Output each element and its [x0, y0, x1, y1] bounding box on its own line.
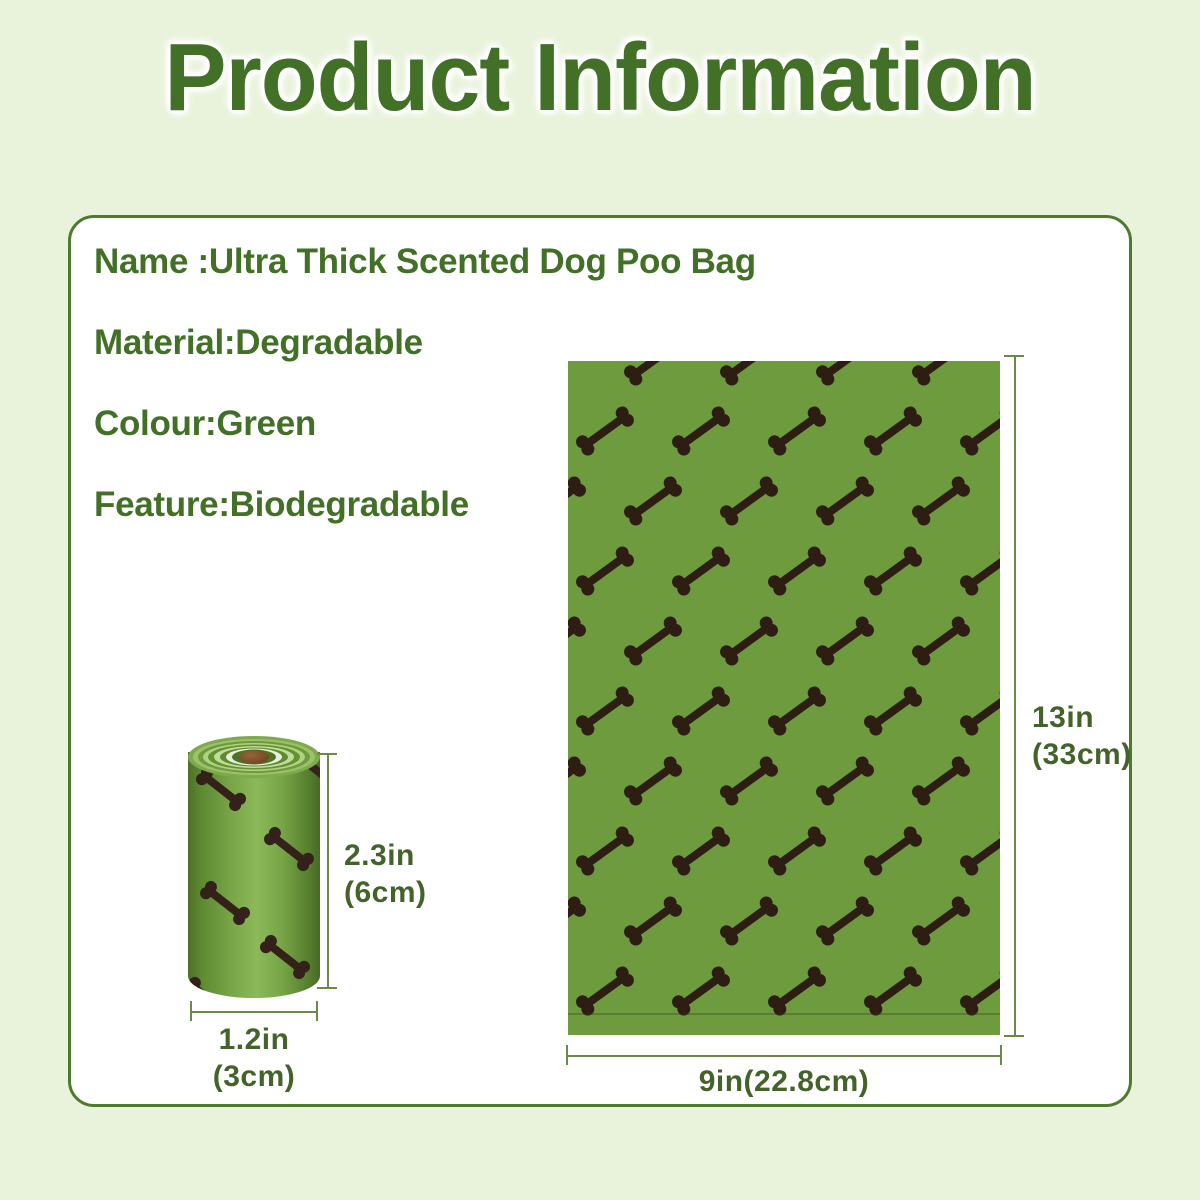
bone-icon	[622, 895, 684, 948]
bone-icon	[574, 825, 636, 878]
roll-body	[188, 752, 320, 998]
bone-icon	[958, 545, 1000, 598]
roll-width-cap-left	[190, 1001, 192, 1021]
bone-icon	[622, 615, 684, 668]
bag-height-inches: 13in	[1032, 700, 1132, 737]
roll-height-dimension-line	[327, 753, 329, 989]
roll-height-cap-top	[317, 753, 337, 755]
bone-icon	[258, 933, 312, 980]
page-title: Product Information	[18, 28, 1182, 129]
bag-seam-line	[568, 1013, 1000, 1015]
bone-icon	[670, 405, 732, 458]
bag-width-cap-right	[1000, 1045, 1002, 1065]
bone-icon	[574, 685, 636, 738]
bone-icon	[188, 975, 236, 998]
spec-row-name: Name :Ultra Thick Scented Dog Poo Bag	[94, 242, 654, 282]
bag-height-label: 13in (33cm)	[1032, 700, 1132, 773]
bone-icon	[670, 965, 732, 1018]
bone-icon	[622, 755, 684, 808]
bone-icon	[766, 685, 828, 738]
dog-poo-bag-roll-image	[188, 736, 320, 1004]
roll-width-cap-right	[316, 1001, 318, 1021]
bone-icon	[766, 545, 828, 598]
bag-height-cm: (33cm)	[1032, 737, 1132, 774]
bone-icon	[568, 615, 588, 668]
bone-pattern	[568, 361, 1000, 1035]
bone-icon	[198, 879, 252, 926]
bag-height-cap-bottom	[1004, 1035, 1024, 1037]
bone-icon	[958, 405, 1000, 458]
bone-icon	[814, 475, 876, 528]
roll-width-label: 1.2in (3cm)	[154, 1022, 354, 1095]
bone-icon	[862, 405, 924, 458]
bone-icon	[862, 965, 924, 1018]
bone-icon	[574, 965, 636, 1018]
bone-icon	[862, 545, 924, 598]
roll-width-inches: 1.2in	[154, 1022, 354, 1059]
bone-icon	[718, 755, 780, 808]
bag-height-cap-top	[1004, 355, 1024, 357]
bone-icon	[910, 361, 972, 387]
bone-icon	[670, 685, 732, 738]
spec-row-material: Material:Degradable	[94, 323, 654, 363]
bone-icon	[910, 615, 972, 668]
dog-poo-bag-image	[568, 361, 1000, 1035]
bone-icon	[766, 405, 828, 458]
bag-width-cap-left	[566, 1045, 568, 1065]
bone-icon	[568, 755, 588, 808]
bone-icon	[958, 965, 1000, 1018]
bag-width-dimension-line	[566, 1055, 1002, 1057]
bone-icon	[718, 895, 780, 948]
bone-icon	[568, 895, 588, 948]
bone-icon	[718, 475, 780, 528]
bone-icon	[568, 361, 588, 387]
roll-height-inches: 2.3in	[344, 838, 427, 875]
bone-icon	[910, 895, 972, 948]
bone-icon	[910, 475, 972, 528]
bone-icon	[622, 361, 684, 387]
bone-icon	[958, 685, 1000, 738]
bone-icon	[814, 615, 876, 668]
bone-icon	[718, 361, 780, 387]
bone-icon	[814, 755, 876, 808]
roll-top-spiral	[188, 736, 320, 778]
roll-width-cm: (3cm)	[154, 1059, 354, 1096]
bone-icon	[574, 545, 636, 598]
bag-width-label: 9in(22.8cm)	[584, 1064, 984, 1101]
bone-icon	[958, 825, 1000, 878]
bone-icon	[766, 965, 828, 1018]
roll-height-label: 2.3in (6cm)	[344, 838, 427, 911]
bone-icon	[670, 825, 732, 878]
bone-icon	[814, 895, 876, 948]
bone-icon	[718, 615, 780, 668]
roll-core-hole	[239, 751, 269, 764]
bag-width-value: 9in(22.8cm)	[699, 1065, 870, 1098]
roll-width-dimension-line	[190, 1011, 318, 1013]
bone-icon	[670, 545, 732, 598]
roll-height-cm: (6cm)	[344, 875, 427, 912]
bone-icon	[910, 755, 972, 808]
bone-icon	[622, 475, 684, 528]
bone-icon	[862, 685, 924, 738]
bone-icon	[568, 475, 588, 528]
bone-icon	[862, 825, 924, 878]
bone-icon	[262, 825, 316, 872]
bone-icon	[766, 825, 828, 878]
bone-icon	[574, 405, 636, 458]
roll-height-cap-bottom	[317, 987, 337, 989]
bag-height-dimension-line	[1014, 355, 1016, 1037]
bone-icon	[814, 361, 876, 387]
